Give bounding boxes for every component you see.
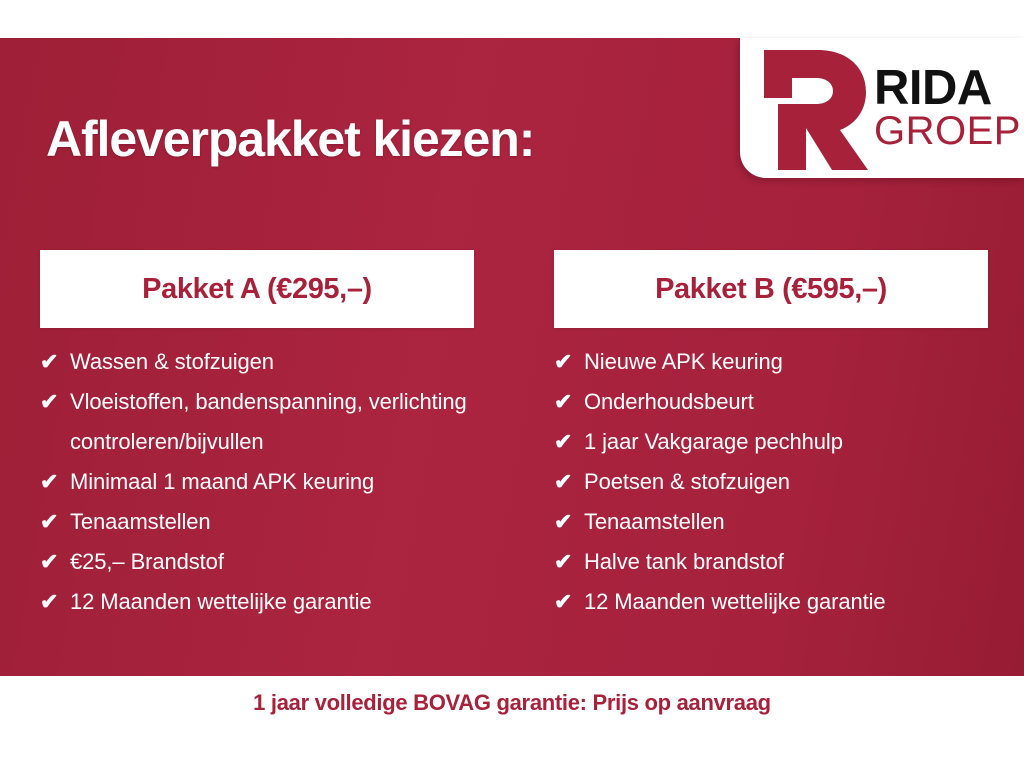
package-column-a: Pakket A (€295,–) ✔ Wassen & stofzuigen … [0, 250, 512, 622]
feature-label: 12 Maanden wettelijke garantie [584, 582, 988, 622]
list-item: ✔ Tenaamstellen [40, 502, 474, 542]
list-item: ✔ 12 Maanden wettelijke garantie [40, 582, 474, 622]
package-b-feature-list: ✔ Nieuwe APK keuring ✔ Onderhoudsbeurt ✔… [554, 342, 988, 622]
list-item: ✔ Tenaamstellen [554, 502, 988, 542]
package-b-header[interactable]: Pakket B (€595,–) [554, 250, 988, 328]
feature-label: Tenaamstellen [70, 502, 474, 542]
packages-container: Pakket A (€295,–) ✔ Wassen & stofzuigen … [0, 250, 1024, 622]
footer-band: 1 jaar volledige BOVAG garantie: Prijs o… [0, 676, 1024, 768]
feature-label: 1 jaar Vakgarage pechhulp [584, 422, 988, 462]
feature-label: Poetsen & stofzuigen [584, 462, 988, 502]
package-a-header[interactable]: Pakket A (€295,–) [40, 250, 474, 328]
check-icon: ✔ [554, 582, 584, 622]
check-icon: ✔ [40, 542, 70, 582]
list-item: ✔ €25,– Brandstof [40, 542, 474, 582]
list-item: ✔ Halve tank brandstof [554, 542, 988, 582]
list-item: ✔ Nieuwe APK keuring [554, 342, 988, 382]
logo-wordmark: RIDA GROEP [874, 65, 1021, 151]
slide-canvas: Afleverpakket kiezen: RIDA GROEP Pakket … [0, 0, 1024, 768]
check-icon: ✔ [40, 582, 70, 622]
check-icon: ✔ [554, 422, 584, 462]
list-item: ✔ Minimaal 1 maand APK keuring [40, 462, 474, 502]
top-letterbox [0, 0, 1024, 38]
footer-note: 1 jaar volledige BOVAG garantie: Prijs o… [0, 690, 1024, 716]
package-b-title: Pakket B (€595,–) [655, 273, 887, 306]
feature-label: Onderhoudsbeurt [584, 382, 988, 422]
feature-label: Nieuwe APK keuring [584, 342, 988, 382]
list-item: ✔ Poetsen & stofzuigen [554, 462, 988, 502]
page-title: Afleverpakket kiezen: [46, 110, 534, 168]
check-icon: ✔ [40, 502, 70, 542]
check-icon: ✔ [554, 342, 584, 382]
feature-label: Vloeistoffen, bandenspanning, verlichtin… [70, 382, 474, 462]
package-a-title: Pakket A (€295,–) [142, 273, 372, 306]
list-item: ✔ 1 jaar Vakgarage pechhulp [554, 422, 988, 462]
feature-label: €25,– Brandstof [70, 542, 474, 582]
list-item: ✔ Wassen & stofzuigen [40, 342, 474, 382]
logo-name-primary: RIDA [874, 65, 1021, 111]
logo-plate: RIDA GROEP [740, 38, 1024, 178]
check-icon: ✔ [554, 382, 584, 422]
rida-r-monogram-icon [756, 46, 868, 170]
check-icon: ✔ [40, 342, 70, 382]
feature-label: 12 Maanden wettelijke garantie [70, 582, 474, 622]
check-icon: ✔ [554, 542, 584, 582]
check-icon: ✔ [554, 502, 584, 542]
list-item: ✔ 12 Maanden wettelijke garantie [554, 582, 988, 622]
check-icon: ✔ [554, 462, 584, 502]
logo: RIDA GROEP [756, 42, 1024, 174]
logo-name-secondary: GROEP [874, 113, 1021, 151]
feature-label: Tenaamstellen [584, 502, 988, 542]
package-a-feature-list: ✔ Wassen & stofzuigen ✔ Vloeistoffen, ba… [40, 342, 474, 622]
list-item: ✔ Vloeistoffen, bandenspanning, verlicht… [40, 382, 474, 462]
check-icon: ✔ [40, 462, 70, 502]
feature-label: Wassen & stofzuigen [70, 342, 474, 382]
package-column-b: Pakket B (€595,–) ✔ Nieuwe APK keuring ✔… [512, 250, 1024, 622]
check-icon: ✔ [40, 382, 70, 422]
list-item: ✔ Onderhoudsbeurt [554, 382, 988, 422]
feature-label: Halve tank brandstof [584, 542, 988, 582]
feature-label: Minimaal 1 maand APK keuring [70, 462, 474, 502]
